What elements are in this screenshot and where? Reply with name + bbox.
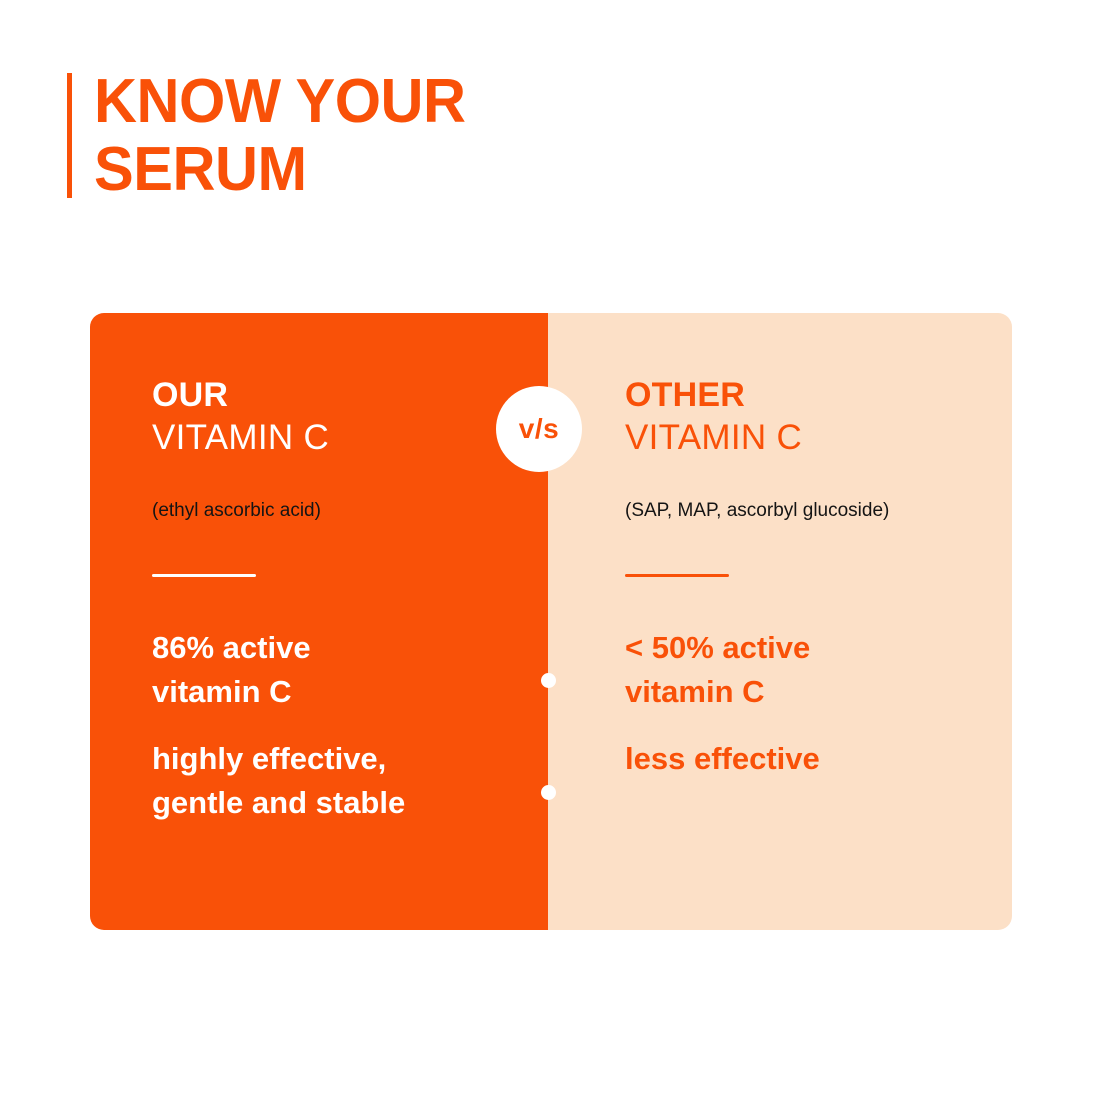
page-title-line-1: KNOW YOUR [94, 68, 466, 136]
other-claim-item: < 50% active vitamin C [625, 626, 1012, 714]
page-title-text: KNOW YOUR SERUM [72, 68, 481, 204]
comparison-panel-ours: OUR VITAMIN C (ethyl ascorbic acid) 86% … [90, 313, 548, 930]
versus-badge: v/s [496, 386, 582, 472]
divider-dot-icon [541, 673, 556, 688]
other-title: VITAMIN C [625, 415, 1012, 461]
other-claim-list: < 50% active vitamin C less effective [625, 626, 1012, 781]
ours-claim-list: 86% active vitamin C highly effective, g… [152, 626, 548, 825]
ours-divider-rule [152, 574, 256, 577]
comparison-panel-other: OTHER VITAMIN C (SAP, MAP, ascorbyl gluc… [548, 313, 1012, 930]
other-formula: (SAP, MAP, ascorbyl glucoside) [625, 499, 1012, 523]
ours-claim-item: highly effective, gentle and stable [152, 737, 548, 825]
page-title: KNOW YOUR SERUM [67, 68, 481, 204]
ours-formula: (ethyl ascorbic acid) [152, 499, 548, 523]
other-claim-item: less effective [625, 737, 1012, 781]
divider-dot-icon [541, 785, 556, 800]
ours-claim-item: 86% active vitamin C [152, 626, 548, 714]
ours-eyebrow: OUR [152, 375, 548, 415]
ours-title: VITAMIN C [152, 415, 548, 461]
other-divider-rule [625, 574, 729, 577]
other-eyebrow: OTHER [625, 375, 1012, 415]
page-title-line-2: SERUM [94, 136, 466, 204]
